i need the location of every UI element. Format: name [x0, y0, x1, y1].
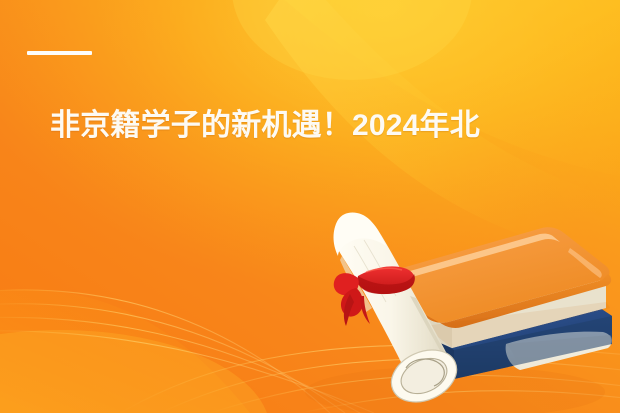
- diploma-and-books-illustration: [320, 198, 620, 413]
- white-divider-rule: [27, 51, 92, 55]
- promo-banner: 非京籍学子的新机遇！2024年北: [0, 0, 620, 413]
- banner-headline: 非京籍学子的新机遇！2024年北: [50, 106, 510, 146]
